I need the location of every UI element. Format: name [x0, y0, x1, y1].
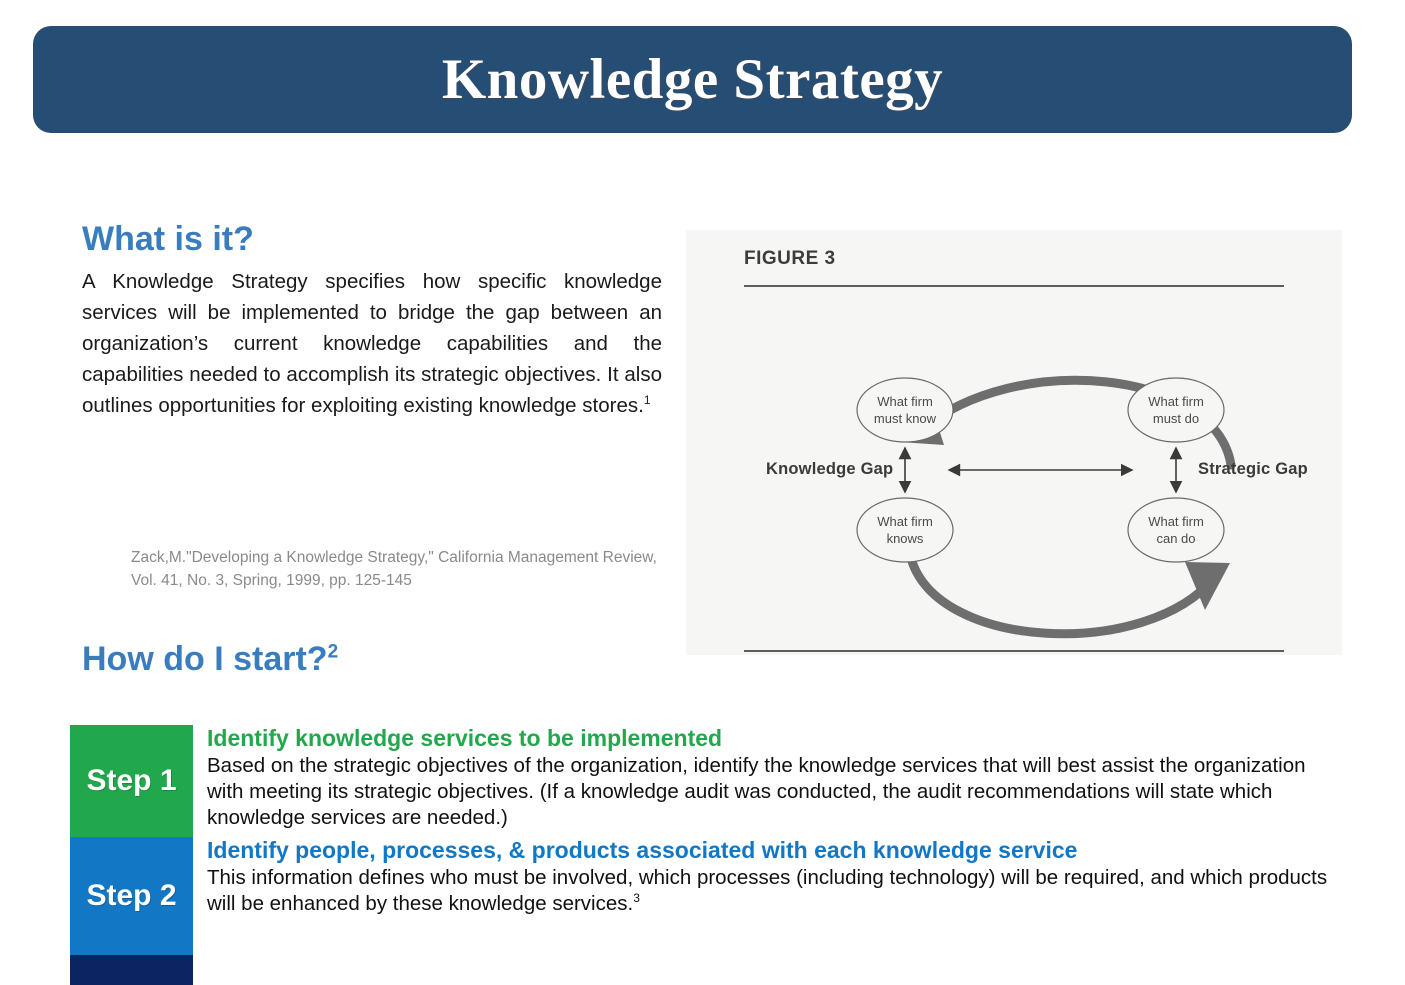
strategic-gap-label: Strategic Gap [1198, 460, 1308, 479]
footnote-marker-3: 3 [633, 891, 640, 905]
what-is-it-heading-text: What is it? [82, 220, 254, 258]
step-body-1: Identify knowledge services to be implem… [193, 725, 1340, 837]
slide-page: Knowledge Strategy What is it? A Knowled… [0, 0, 1405, 976]
how-do-i-start-heading: How do I start?2 [82, 640, 338, 679]
step-description-2: This information defines who must be inv… [207, 865, 1330, 917]
node-label-must-do-line2: must do [1153, 411, 1199, 426]
node-label-knows-line2: knows [887, 531, 924, 546]
figure-panel: FIGURE 3 What firm [686, 230, 1342, 655]
node-label-can-do-line1: What firm [1148, 514, 1204, 529]
how-do-i-start-heading-text: How do I start? [82, 640, 328, 678]
step-body-3 [193, 955, 1340, 985]
footnote-marker-1: 1 [644, 393, 651, 407]
what-is-it-section: What is it? A Knowledge Strategy specifi… [82, 222, 662, 421]
step-badge-1: Step 1 [70, 725, 193, 837]
step-row-1[interactable]: Step 1 Identify knowledge services to be… [70, 725, 1340, 837]
step-row-3[interactable] [70, 955, 1340, 985]
footnote-marker-2: 2 [328, 642, 339, 663]
step-description-1: Based on the strategic objectives of the… [207, 753, 1330, 831]
step-description-1-text: Based on the strategic objectives of the… [207, 754, 1306, 829]
title-banner: Knowledge Strategy [33, 26, 1352, 133]
knowledge-gap-label: Knowledge Gap [766, 460, 893, 479]
curved-arrow-bottom [911, 558, 1214, 634]
node-label-must-know-line1: What firm [877, 394, 933, 409]
node-what-firm-must-do [1128, 378, 1224, 442]
step-badge-3 [70, 955, 193, 985]
what-is-it-heading: What is it? [82, 222, 662, 258]
node-label-knows-line1: What firm [877, 514, 933, 529]
page-title: Knowledge Strategy [442, 47, 943, 112]
step-row-2[interactable]: Step 2 Identify people, processes, & pro… [70, 837, 1340, 955]
node-label-must-know-line2: must know [874, 411, 937, 426]
node-what-firm-must-know [857, 378, 953, 442]
what-is-it-paragraph-text: A Knowledge Strategy specifies how speci… [82, 270, 662, 417]
node-label-can-do-line2: can do [1156, 531, 1195, 546]
step-description-2-text: This information defines who must be inv… [207, 866, 1327, 915]
node-what-firm-can-do [1128, 498, 1224, 562]
node-label-must-do-line1: What firm [1148, 394, 1204, 409]
knowledge-gap-diagram: What firm must know What firm must do Wh… [686, 230, 1342, 655]
step-body-2: Identify people, processes, & products a… [193, 837, 1340, 955]
step-badge-2: Step 2 [70, 837, 193, 955]
step-title-1: Identify knowledge services to be implem… [207, 725, 1330, 751]
what-is-it-paragraph: A Knowledge Strategy specifies how speci… [82, 266, 662, 421]
steps-list: Step 1 Identify knowledge services to be… [70, 725, 1340, 985]
citation-text: Zack,M."Developing a Knowledge Strategy,… [131, 546, 661, 592]
step-title-2: Identify people, processes, & products a… [207, 837, 1330, 863]
node-what-firm-knows [857, 498, 953, 562]
